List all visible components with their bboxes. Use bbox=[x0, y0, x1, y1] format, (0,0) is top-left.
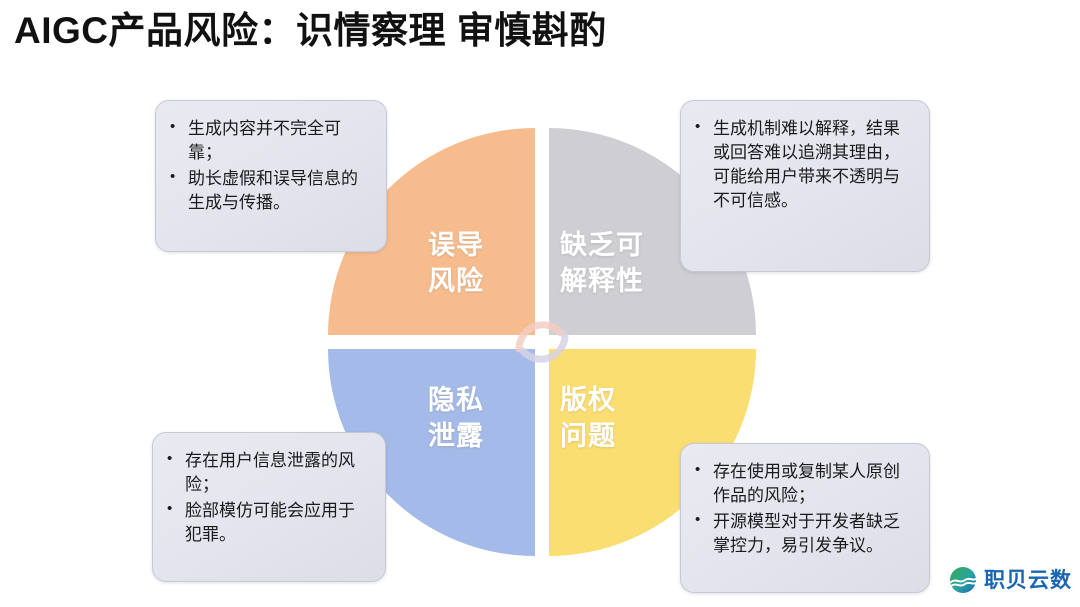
list-item: 助长虚假和误导信息的生成与传播。 bbox=[188, 167, 372, 215]
list-item: 开源模型对于开发者缺乏掌控力，易引发争议。 bbox=[713, 510, 915, 558]
quadrant-label-lack-of-explainability: 缺乏可 解释性 bbox=[560, 228, 644, 299]
callout-list: 存在用户信息泄露的风险； 脸部模仿可能会应用于犯罪。 bbox=[165, 449, 371, 548]
brand-name: 职贝云数 bbox=[984, 570, 1072, 591]
brand-logo: 职贝云数 bbox=[948, 565, 1072, 595]
page-title: AIGC产品风险：识情察理 审慎斟酌 bbox=[14, 8, 607, 54]
callout-lack-of-explainability: 生成机制难以解释，结果或回答难以追溯其理由，可能给用户带来不透明与不可信感。 bbox=[680, 100, 930, 272]
list-item: 生成机制难以解释，结果或回答难以追溯其理由，可能给用户带来不透明与不可信感。 bbox=[713, 117, 915, 214]
list-item: 存在用户信息泄露的风险； bbox=[185, 449, 371, 497]
quadrant-label-privacy-leak: 隐私 泄露 bbox=[428, 383, 484, 454]
callout-list: 存在使用或复制某人原创作品的风险； 开源模型对于开发者缺乏掌控力，易引发争议。 bbox=[693, 460, 915, 559]
list-item: 存在使用或复制某人原创作品的风险； bbox=[713, 460, 915, 508]
list-item: 生成内容并不完全可靠； bbox=[188, 117, 372, 165]
callout-copyright-issue: 存在使用或复制某人原创作品的风险； 开源模型对于开发者缺乏掌控力，易引发争议。 bbox=[680, 443, 930, 593]
callout-privacy-leak: 存在用户信息泄露的风险； 脸部模仿可能会应用于犯罪。 bbox=[152, 432, 386, 582]
callout-list: 生成内容并不完全可靠； 助长虚假和误导信息的生成与传播。 bbox=[168, 117, 372, 216]
quadrant-label-copyright-issue: 版权 问题 bbox=[560, 383, 616, 454]
callout-list: 生成机制难以解释，结果或回答难以追溯其理由，可能给用户带来不透明与不可信感。 bbox=[693, 117, 915, 214]
list-item: 脸部模仿可能会应用于犯罪。 bbox=[185, 499, 371, 547]
wave-circle-logo-icon bbox=[948, 565, 978, 595]
callout-misleading-risk: 生成内容并不完全可靠； 助长虚假和误导信息的生成与传播。 bbox=[155, 100, 387, 252]
quadrant-label-misleading-risk: 误导 风险 bbox=[428, 228, 484, 299]
